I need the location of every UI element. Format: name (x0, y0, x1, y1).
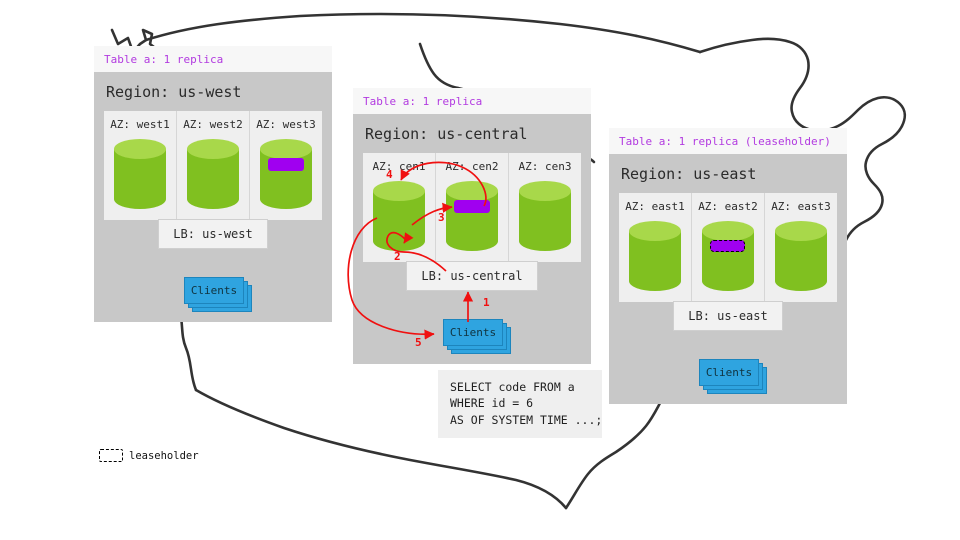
lb-wrap-us-east: LB: us-east (619, 301, 837, 331)
dashed-rect-icon (99, 449, 123, 462)
az-label-west3: AZ: west3 (256, 118, 316, 131)
region-us-central: Table a: 1 replica Region: us-central AZ… (353, 88, 591, 364)
node-cylinder-west1 (113, 138, 167, 210)
clients-sheet-front: Clients (699, 359, 759, 386)
region-title-us-west: Region: us-west (104, 72, 322, 111)
legend-leaseholder: leaseholder (99, 449, 199, 462)
arrow-label-5: 5 (415, 336, 422, 349)
az-label-east1: AZ: east1 (625, 200, 685, 213)
load-balancer-us-central[interactable]: LB: us-central (406, 261, 537, 291)
az-label-east3: AZ: east3 (771, 200, 831, 213)
node-cylinder-east3 (774, 220, 828, 292)
arrow-label-2: 2 (394, 250, 401, 263)
clients-sheet-front: Clients (443, 319, 503, 346)
diagram-canvas: Table a: 1 replica Region: us-west AZ: w… (0, 0, 960, 540)
clients-stack-us-east[interactable]: Clients (699, 359, 757, 384)
region-body-us-west: Region: us-west AZ: west1 AZ: west2 (94, 72, 332, 322)
replica-range-west3 (268, 158, 304, 171)
az-cell-east1[interactable]: AZ: east1 (619, 193, 692, 302)
az-cell-cen1[interactable]: AZ: cen1 (363, 153, 436, 262)
clients-stack-us-west[interactable]: Clients (184, 277, 242, 302)
node-cylinder-west2 (186, 138, 240, 210)
region-us-west: Table a: 1 replica Region: us-west AZ: w… (94, 46, 332, 322)
az-cell-cen3[interactable]: AZ: cen3 (509, 153, 581, 262)
az-label-cen1: AZ: cen1 (373, 160, 426, 173)
load-balancer-us-east[interactable]: LB: us-east (673, 301, 782, 331)
table-replica-label-us-central: Table a: 1 replica (353, 88, 591, 114)
region-body-us-central: Region: us-central AZ: cen1 AZ: cen2 (353, 114, 591, 364)
az-row-us-central: AZ: cen1 AZ: cen2 (363, 153, 581, 262)
region-us-east: Table a: 1 replica (leaseholder) Region:… (609, 128, 847, 404)
az-cell-east3[interactable]: AZ: east3 (765, 193, 837, 302)
az-row-us-east: AZ: east1 AZ: east2 (619, 193, 837, 302)
table-replica-label-us-east: Table a: 1 replica (leaseholder) (609, 128, 847, 154)
az-label-west1: AZ: west1 (110, 118, 170, 131)
legend-label: leaseholder (129, 450, 199, 462)
az-label-cen2: AZ: cen2 (446, 160, 499, 173)
clients-wrap-us-east: Clients (619, 359, 837, 384)
az-cell-east2[interactable]: AZ: east2 (692, 193, 765, 302)
region-body-us-east: Region: us-east AZ: east1 AZ: east2 (609, 154, 847, 404)
az-label-cen3: AZ: cen3 (519, 160, 572, 173)
arrow-label-3: 3 (438, 211, 445, 224)
az-cell-west2[interactable]: AZ: west2 (177, 111, 250, 220)
az-label-east2: AZ: east2 (698, 200, 758, 213)
az-cell-west3[interactable]: AZ: west3 (250, 111, 322, 220)
clients-label-us-east: Clients (706, 366, 752, 379)
az-row-us-west: AZ: west1 AZ: west2 (104, 111, 322, 220)
lb-wrap-us-central: LB: us-central (363, 261, 581, 291)
lb-wrap-us-west: LB: us-west (104, 219, 322, 249)
az-cell-west1[interactable]: AZ: west1 (104, 111, 177, 220)
arrow-label-1: 1 (483, 296, 490, 309)
load-balancer-us-west[interactable]: LB: us-west (158, 219, 267, 249)
node-cylinder-west3 (259, 138, 313, 210)
clients-stack-us-central[interactable]: Clients (443, 319, 501, 344)
region-title-us-east: Region: us-east (619, 154, 837, 193)
node-cylinder-cen2 (445, 180, 499, 252)
arrow-label-4: 4 (386, 168, 393, 181)
node-cylinder-east2 (701, 220, 755, 292)
az-cell-cen2[interactable]: AZ: cen2 (436, 153, 509, 262)
replica-range-cen2 (454, 200, 490, 213)
node-cylinder-cen1 (372, 180, 426, 252)
clients-sheet-front: Clients (184, 277, 244, 304)
node-cylinder-cen3 (518, 180, 572, 252)
replica-range-east2-leaseholder (710, 240, 745, 252)
region-title-us-central: Region: us-central (363, 114, 581, 153)
clients-label-us-central: Clients (450, 326, 496, 339)
clients-wrap-us-west: Clients (104, 277, 322, 302)
clients-label-us-west: Clients (191, 284, 237, 297)
table-replica-label-us-west: Table a: 1 replica (94, 46, 332, 72)
node-cylinder-east1 (628, 220, 682, 292)
sql-query-box: SELECT code FROM a WHERE id = 6 AS OF SY… (438, 370, 602, 438)
az-label-west2: AZ: west2 (183, 118, 243, 131)
clients-wrap-us-central: Clients (363, 319, 581, 344)
